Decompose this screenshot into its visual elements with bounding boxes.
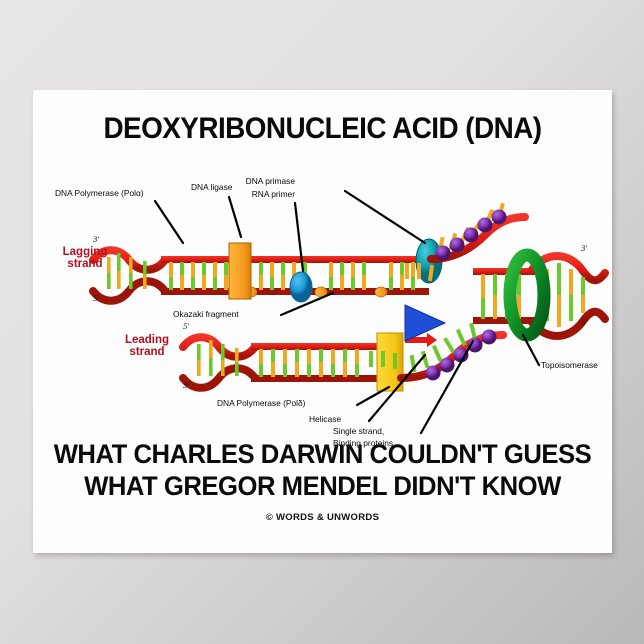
leading-strand-duplex [183,333,437,391]
page-title: DEOXYRIBONUCLEIC ACID (DNA) [53,112,591,146]
label-leading-strand-line1: Leading [111,334,183,346]
prime-right-bottom: 5′ [581,317,587,327]
label-topoisomerase: Topoisomerase [541,361,598,370]
copyright-line: © WORDS & UNWORDS [33,512,612,523]
label-leading-strand-line2: strand [111,346,183,358]
label-lagging-strand-line1: Lagging [49,246,121,258]
label-lagging-strand-line2: strand [49,258,121,270]
label-dna-polymerase-alpha: DNA Polymerase (Polα) [55,189,144,198]
prime-leading-top: 5′ [183,321,189,331]
label-ssb-line1: Single strand, [333,427,384,436]
label-helicase: Helicase [309,415,341,424]
prime-lagging-bottom: 5′ [93,293,99,303]
label-dna-polymerase-delta: DNA Polymerase (Polδ) [217,399,305,408]
label-dna-primase: DNA primase [235,177,295,186]
label-rna-primer: RNA primer [235,190,295,199]
prime-right-top: 3′ [581,243,587,253]
poster-sheet: DEOXYRIBONUCLEIC ACID (DNA) [33,90,612,553]
dna-ligase-shape [229,243,251,299]
base-pairs-leading [259,349,359,377]
prime-leading-bottom: 3′ [183,380,189,390]
label-dna-ligase: DNA ligase [191,183,232,192]
rna-primer-shape [290,272,312,302]
prime-lagging-top: 3′ [93,234,99,244]
dna-diagram-svg [33,165,612,435]
caption-line-1: WHAT CHARLES DARWIN COULDN'T GUESS [47,439,597,470]
screenshot-canvas: DEOXYRIBONUCLEIC ACID (DNA) [0,0,644,644]
dna-polymerase-delta-shape [377,333,437,391]
label-okazaki-fragment: Okazaki fragment [173,310,239,319]
caption-line-2: WHAT GREGOR MENDEL DIDN'T KNOW [47,471,597,502]
helicase-shape [405,305,445,341]
dna-replication-diagram: DNA Polymerase (Polα) DNA ligase DNA pri… [33,165,612,435]
lagging-strand-duplex [93,239,442,302]
